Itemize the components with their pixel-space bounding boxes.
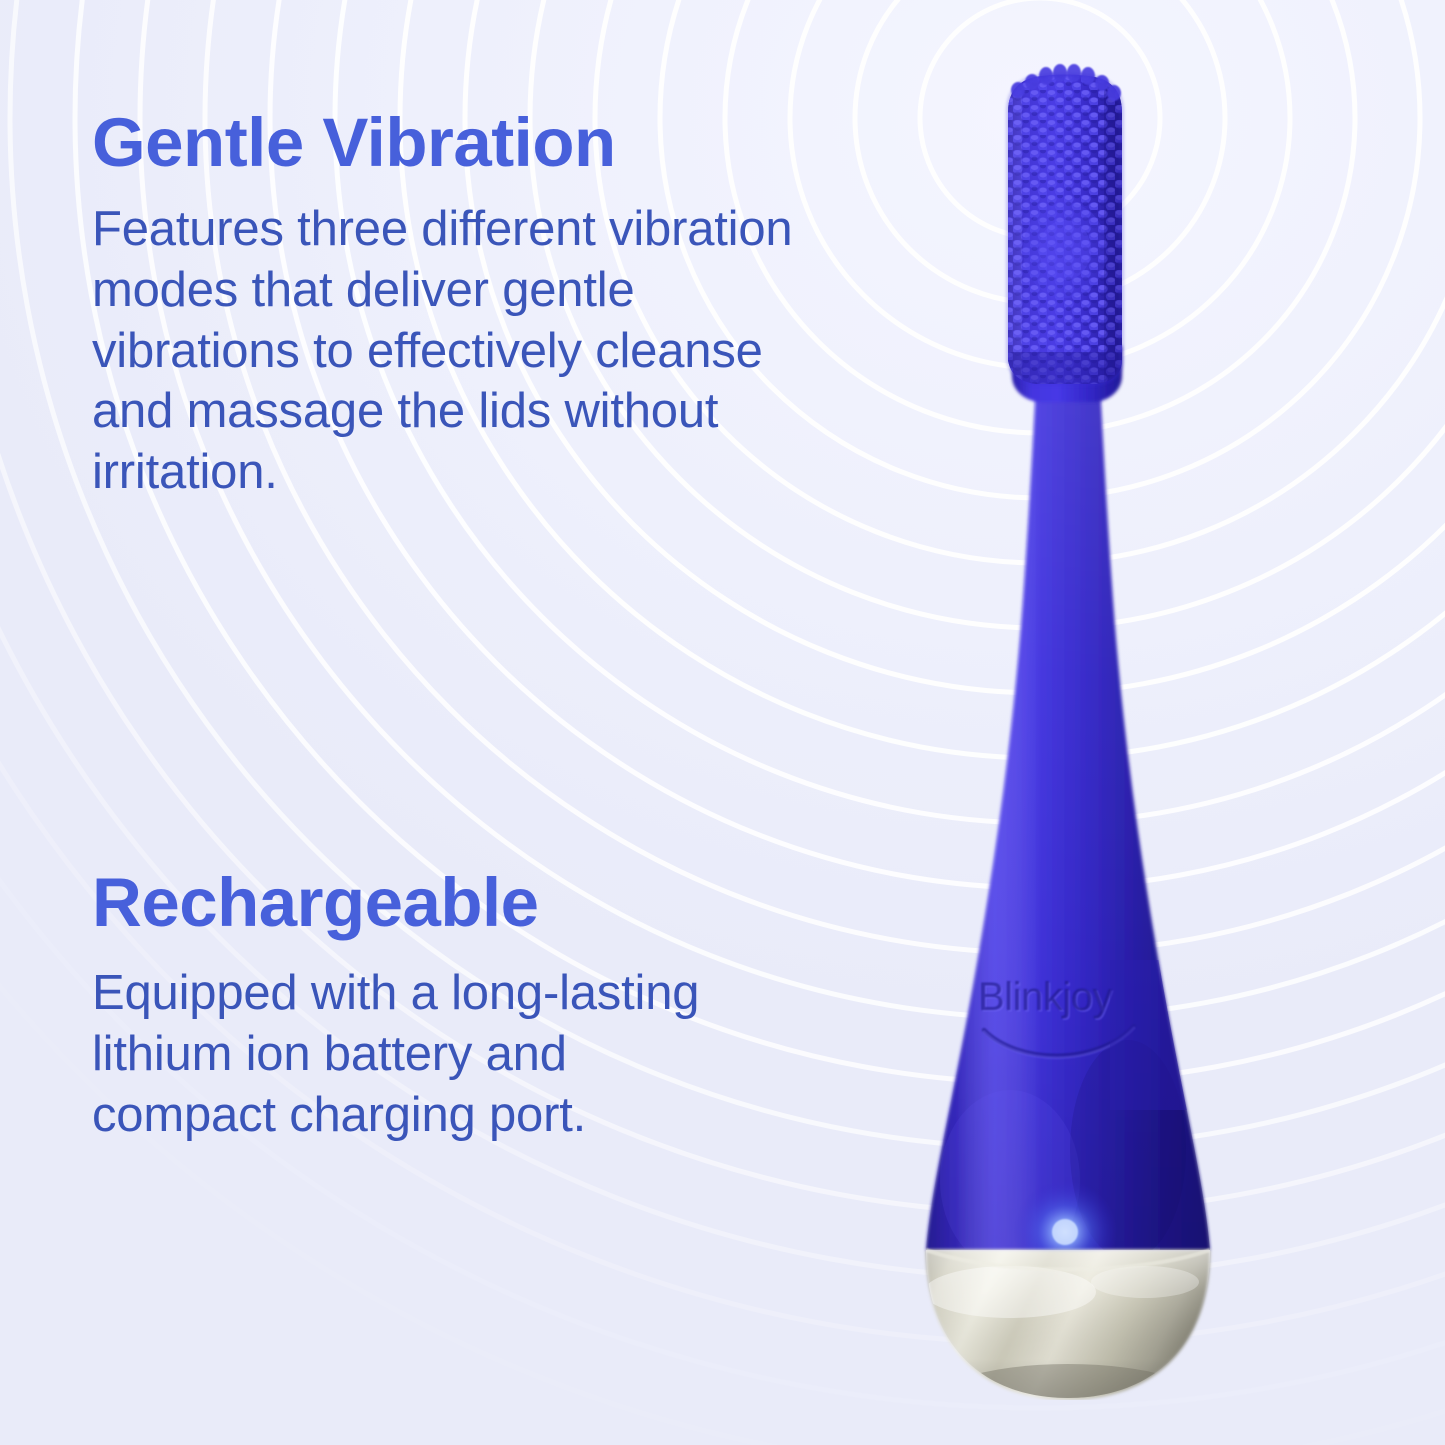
brand-logo-text: Blinkjoy [978,975,1112,1019]
feature-heading-gentle-vibration: Gentle Vibration [92,108,852,177]
feature-block-gentle-vibration: Gentle Vibration Features three differen… [92,108,852,503]
feature-panel-canvas: Gentle Vibration Features three differen… [0,0,1445,1445]
feature-body-rechargeable: Equipped with a long-lasting lithium ion… [92,963,752,1145]
product-image: eyelid cleansing vibrating brush [860,60,1290,1400]
product-brush-head [1000,64,1136,395]
feature-body-gentle-vibration: Features three different vibration modes… [92,199,832,503]
product-handle [910,360,1240,1270]
product-base-cap [910,1240,1250,1400]
feature-heading-rechargeable: Rechargeable [92,868,852,937]
feature-block-rechargeable: Rechargeable Equipped with a long-lastin… [92,868,852,1145]
